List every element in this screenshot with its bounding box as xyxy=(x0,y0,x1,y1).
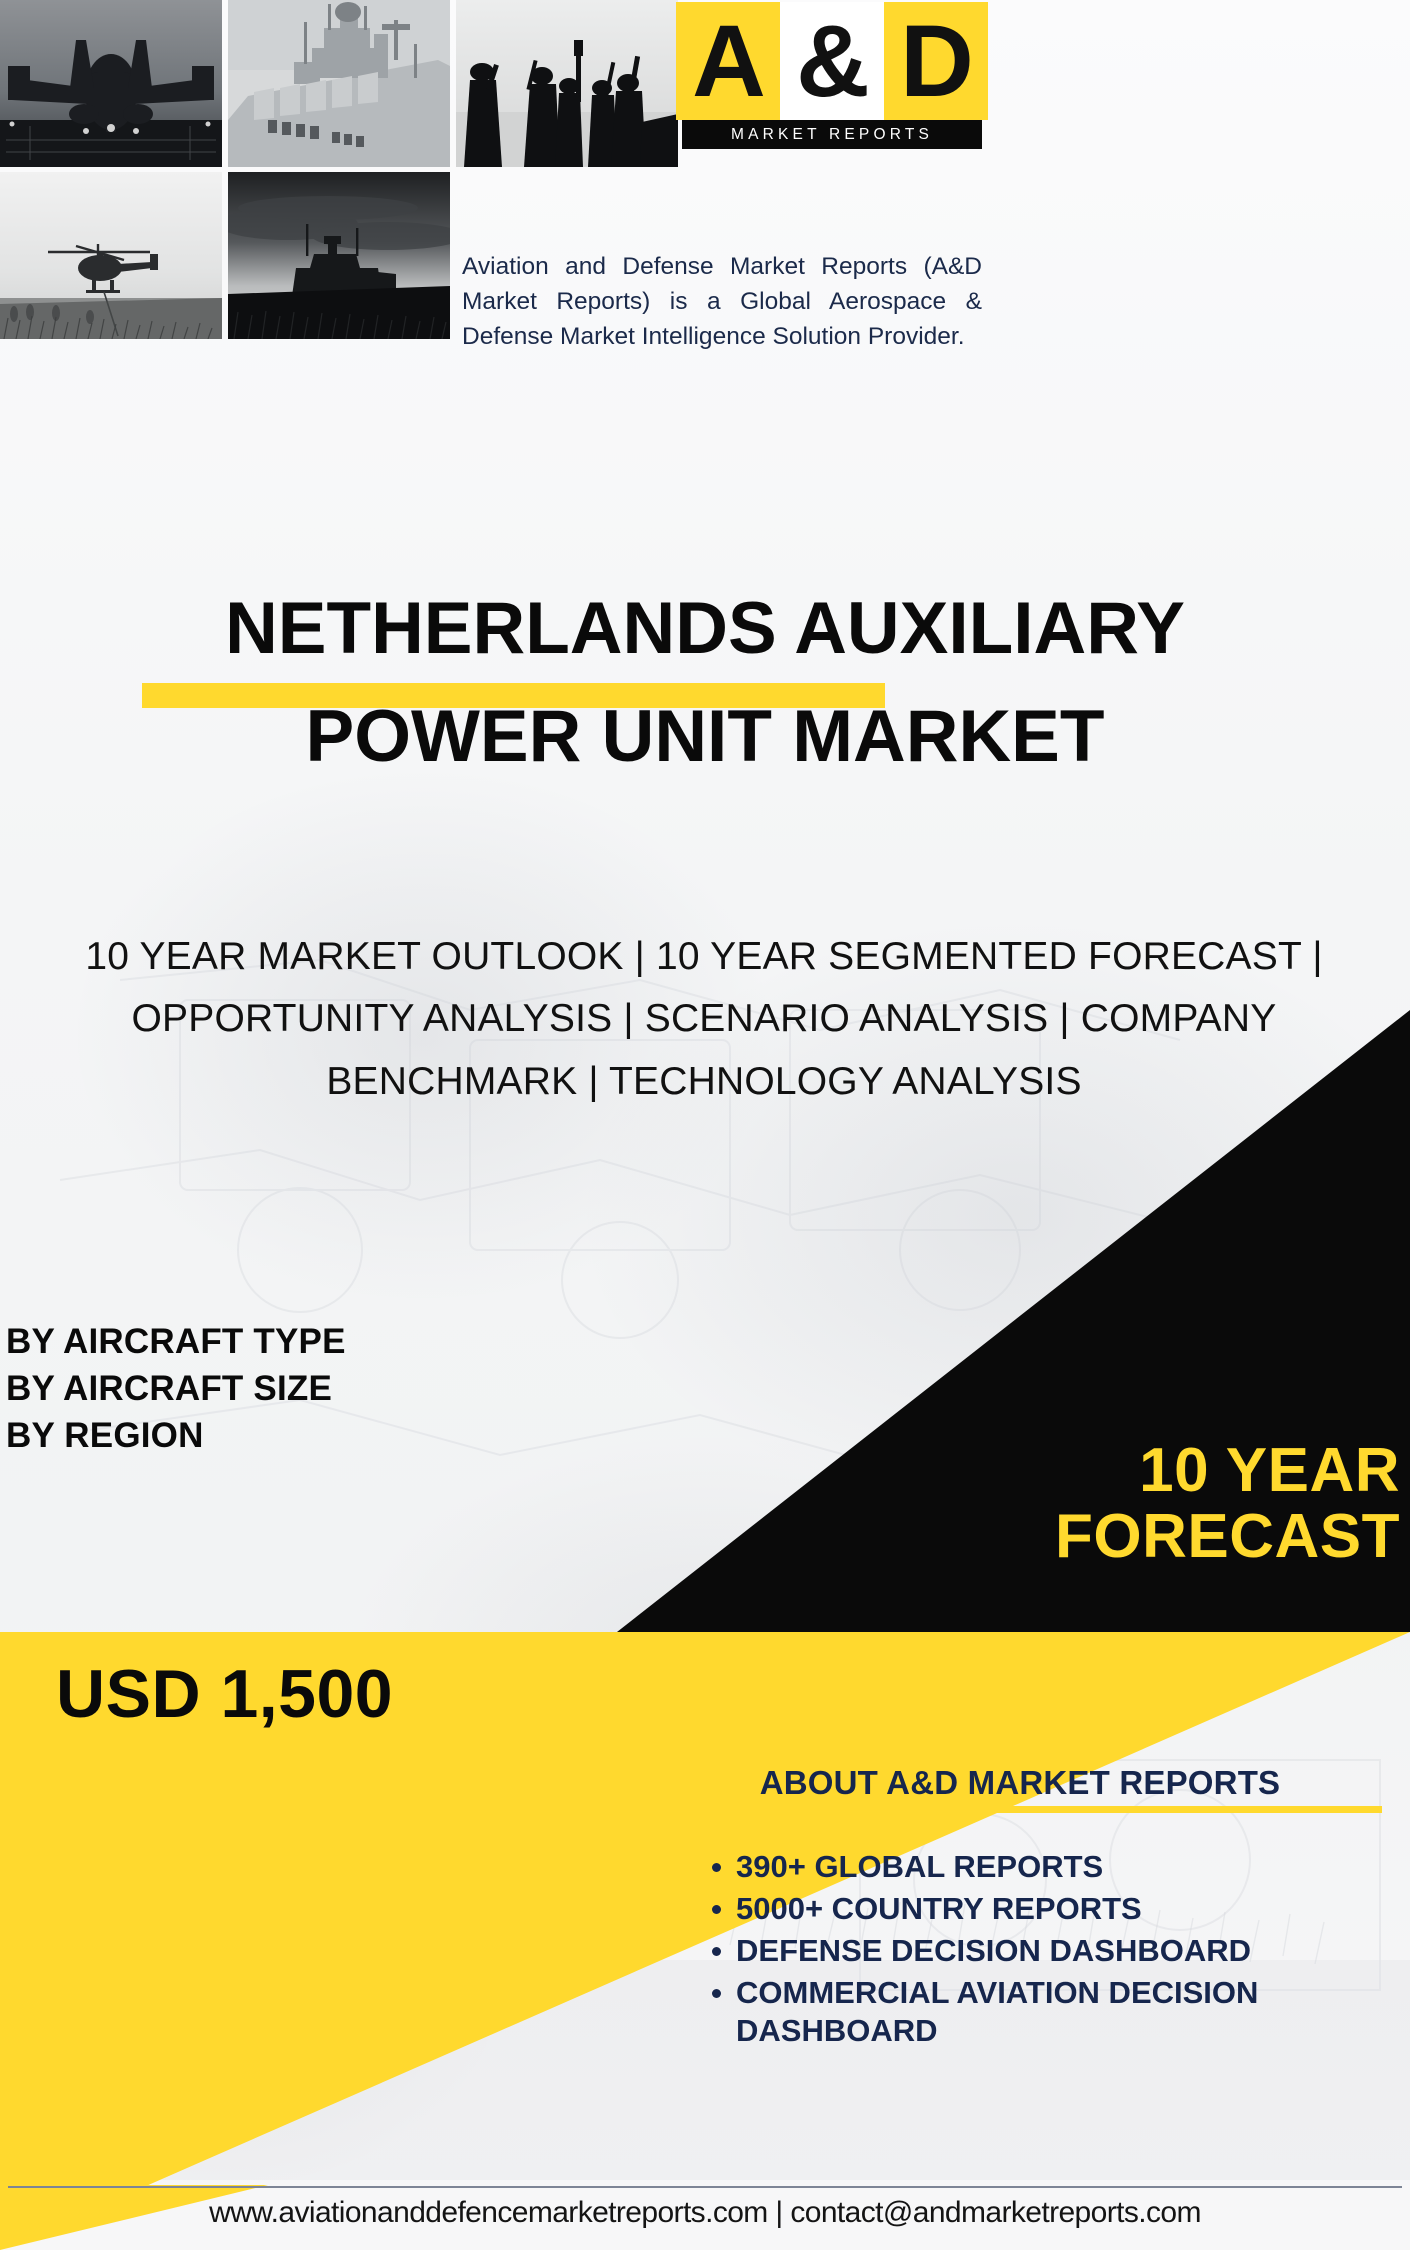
segmentation-list: BY AIRCRAFT TYPE BY AIRCRAFT SIZE BY REG… xyxy=(6,1318,346,1459)
logo-tiles: A & D xyxy=(676,2,988,120)
page-title-line1: NETHERLANDS AUXILIARY xyxy=(0,592,1410,665)
about-bullet-defense-dashboard: DEFENSE DECISION DASHBOARD xyxy=(736,1932,1410,1970)
forecast-line2: FORECAST xyxy=(600,1504,1400,1570)
footer-divider xyxy=(8,2186,1402,2188)
segment-item-aircraft-type: BY AIRCRAFT TYPE xyxy=(6,1318,346,1365)
report-scope-text: 10 YEAR MARKET OUTLOOK | 10 YEAR SEGMENT… xyxy=(28,926,1380,1113)
photo-naval-warship-superstructure xyxy=(228,0,450,167)
logo-tagline: MARKET REPORTS xyxy=(682,120,982,149)
forecast-badge: 10 YEAR FORECAST xyxy=(600,1438,1400,1570)
segment-item-aircraft-size: BY AIRCRAFT SIZE xyxy=(6,1365,346,1412)
photo-armored-vehicle-at-dusk xyxy=(228,172,450,339)
about-bullet-global-reports: 390+ GLOBAL REPORTS xyxy=(736,1848,1410,1886)
about-section-title: ABOUT A&D MARKET REPORTS xyxy=(660,1764,1380,1802)
photo-fighter-jet-on-carrier-deck xyxy=(0,0,222,167)
poster-root: A & D MARKET REPORTS Aviation and Defens… xyxy=(0,0,1410,2250)
about-bullet-commercial-dashboard: COMMERCIAL AVIATION DECISION DASHBOARD xyxy=(736,1974,1410,2050)
photo-military-helicopter-hovering xyxy=(0,172,222,339)
segment-item-region: BY REGION xyxy=(6,1412,346,1459)
logo-letter-d: D xyxy=(884,2,988,120)
about-title-underline xyxy=(682,1806,1382,1813)
about-bullet-list: 390+ GLOBAL REPORTS 5000+ COUNTRY REPORT… xyxy=(700,1848,1410,2054)
intro-paragraph: Aviation and Defense Market Reports (A&D… xyxy=(462,250,982,354)
photo-soldiers-silhouette-patrol xyxy=(456,0,678,167)
logo-letter-a: A xyxy=(676,2,780,120)
logo-letter-ampersand: & xyxy=(780,2,884,120)
footer-contact: www.aviationanddefencemarketreports.com … xyxy=(0,2196,1410,2230)
forecast-line1: 10 YEAR xyxy=(600,1438,1400,1504)
page-title-line2: POWER UNIT MARKET xyxy=(0,700,1410,773)
logo: A & D MARKET REPORTS xyxy=(676,2,988,150)
about-bullet-country-reports: 5000+ COUNTRY REPORTS xyxy=(736,1890,1410,1928)
price-value: USD 1,500 xyxy=(56,1660,393,1728)
